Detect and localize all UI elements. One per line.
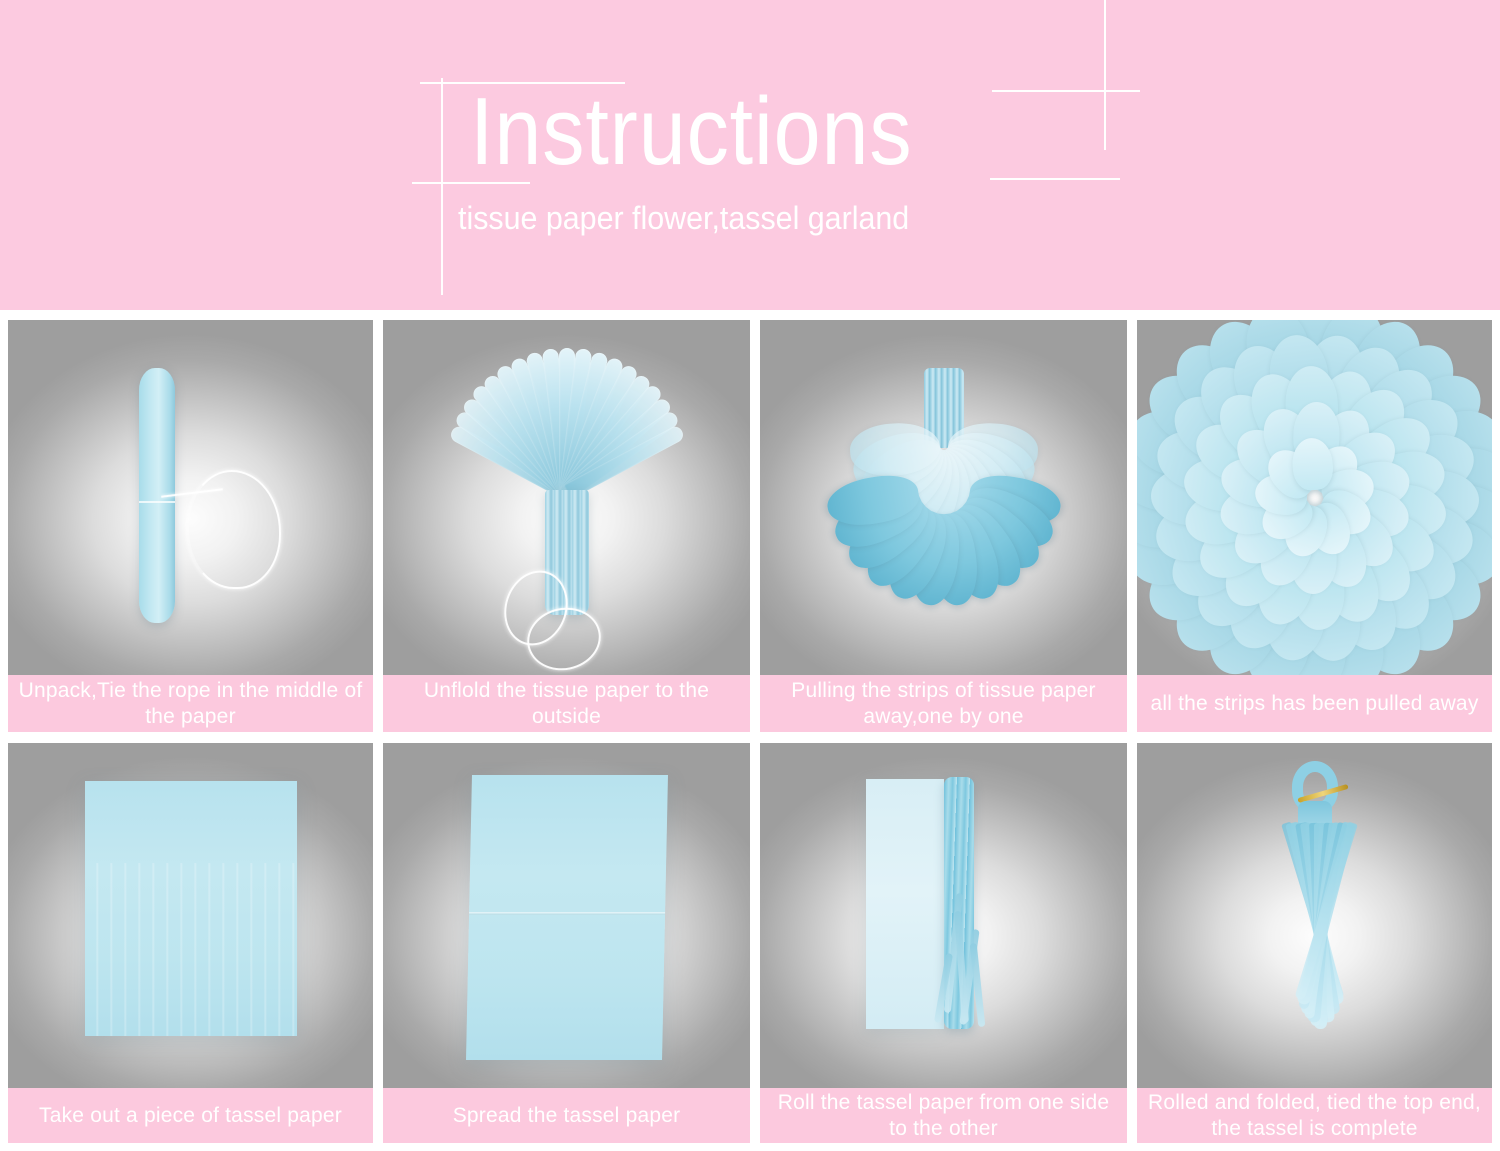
step-photo-6 <box>383 743 750 1088</box>
step-photo-2 <box>383 320 750 675</box>
step-photo-4 <box>1137 320 1492 675</box>
decorative-rule-bottom-right <box>990 178 1120 180</box>
step-photo-1 <box>8 320 373 675</box>
decorative-rule-vertical-left <box>441 78 443 295</box>
header-banner: Instructions tissue paper flower,tassel … <box>0 0 1500 310</box>
step-photo-8 <box>1137 743 1492 1088</box>
decorative-rule-cross-right <box>992 90 1140 92</box>
fringe-cuts <box>85 863 297 1036</box>
step-panel-7: Roll the tassel paper from one side to t… <box>760 743 1127 1143</box>
step-caption-2: Unflold the tissue paper to the outside <box>383 675 750 732</box>
step-caption-1: Unpack,Tie the rope in the middle of the… <box>8 675 373 732</box>
step-panel-1: Unpack,Tie the rope in the middle of the… <box>8 320 373 732</box>
step-caption-3: Pulling the strips of tissue paper away,… <box>760 675 1127 732</box>
tassel-sheet <box>85 781 297 1036</box>
step-panel-6: Spread the tassel paper <box>383 743 750 1143</box>
step-panel-4: all the strips has been pulled away <box>1137 320 1492 732</box>
step-panel-5: Take out a piece of tassel paper <box>8 743 373 1143</box>
step-photo-5 <box>8 743 373 1088</box>
white-rope-loop <box>187 470 281 589</box>
step-caption-8: Rolled and folded, tied the top end, the… <box>1137 1088 1492 1143</box>
page-title: Instructions <box>470 84 913 180</box>
step-caption-4: all the strips has been pulled away <box>1137 675 1492 732</box>
horizontal-crease <box>469 912 665 915</box>
instruction-sheet: Instructions tissue paper flower,tassel … <box>0 0 1500 1151</box>
steps-grid: Unpack,Tie the rope in the middle of the… <box>8 320 1492 1143</box>
flat-tassel-half <box>866 779 944 1029</box>
step-caption-5: Take out a piece of tassel paper <box>8 1088 373 1143</box>
decorative-rule-vertical-right <box>1104 0 1106 150</box>
step-photo-7 <box>760 743 1127 1088</box>
step-panel-3: Pulling the strips of tissue paper away,… <box>760 320 1127 732</box>
step-panel-8: Rolled and folded, tied the top end, the… <box>1137 743 1492 1143</box>
step-caption-6: Spread the tassel paper <box>383 1088 750 1143</box>
step-panel-2: Unflold the tissue paper to the outside <box>383 320 750 732</box>
spread-tassel-sheet <box>466 775 668 1060</box>
step-photo-3 <box>760 320 1127 675</box>
step-caption-7: Roll the tassel paper from one side to t… <box>760 1088 1127 1143</box>
page-subtitle: tissue paper flower,tassel garland <box>458 200 909 237</box>
